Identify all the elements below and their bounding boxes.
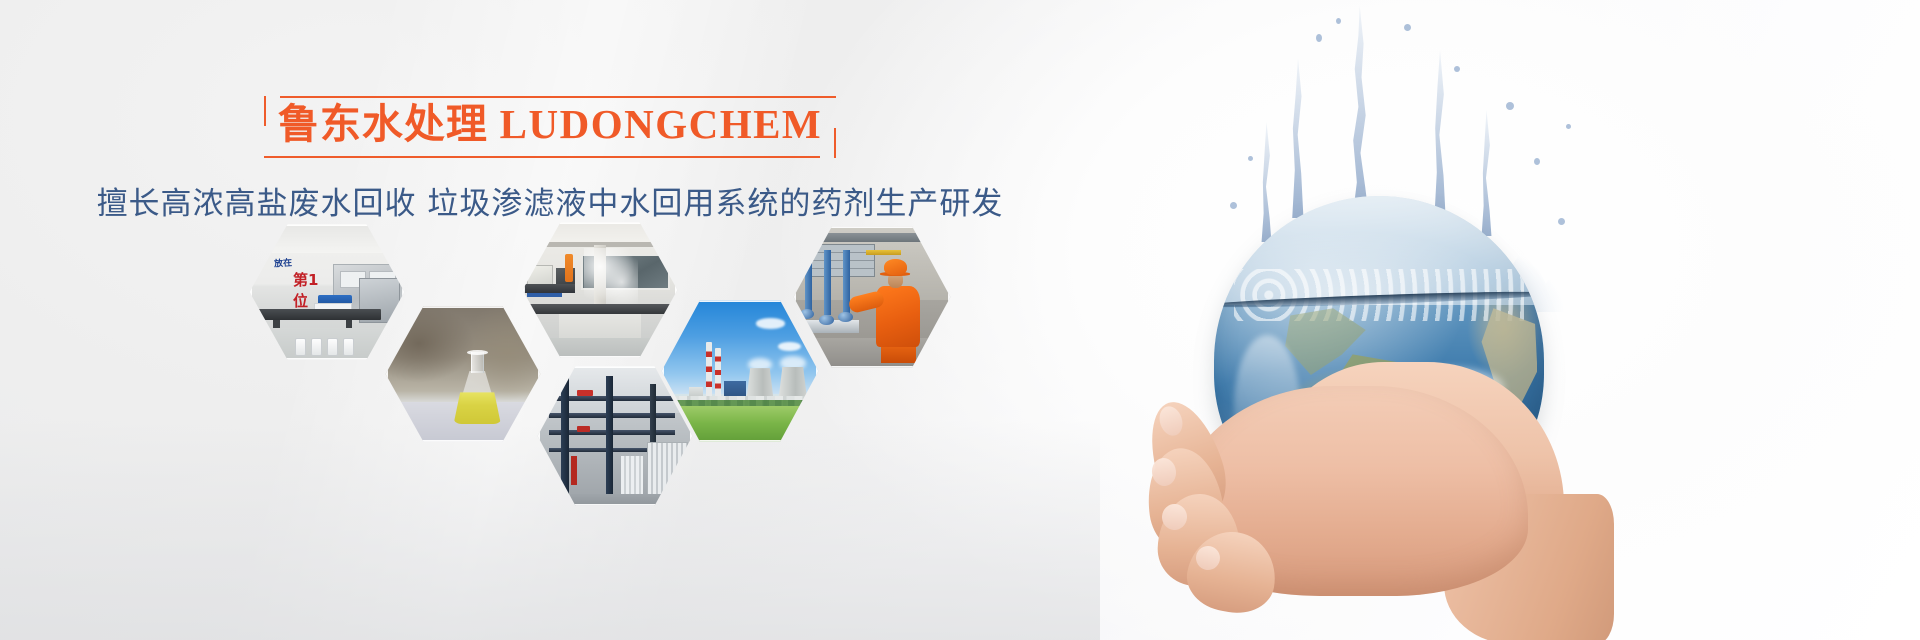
lab-interior-photo: 放在 第1位 [248, 222, 406, 362]
erlenmeyer-flask [454, 352, 501, 425]
title-rule-top [280, 96, 836, 98]
brand-title-en [488, 101, 500, 147]
brand-title-en-text: LUDONGCHEM [500, 101, 823, 147]
page-title: 鲁东水处理 LUDONGCHEM [278, 102, 822, 148]
lab-glassware-photo [521, 220, 679, 360]
banner-text-block: 鲁东水处理 LUDONGCHEM 擅长高浓高盐废水回收 垃圾渗滤液中水回用系统的… [0, 96, 1100, 223]
title-bracket-left [264, 96, 266, 126]
worker-figure [872, 259, 939, 361]
title-bracket-right [834, 128, 836, 158]
worker-orange-suit-photo [792, 224, 952, 370]
flask-yellow-liquid-photo [384, 304, 542, 444]
hard-hat-icon [884, 259, 907, 275]
hexagon-photo-collage: 放在 第1位 [236, 218, 956, 518]
wall-slogan-text-2: 第1位 [293, 269, 330, 311]
cupped-hands [1144, 344, 1564, 634]
wall-slogan-text-1: 放在 [274, 255, 293, 269]
brand-title-wrap: 鲁东水处理 LUDONGCHEM [252, 96, 848, 158]
banner-subtitle: 擅长高浓高盐废水回收 垃圾渗滤液中水回用系统的药剂生产研发 [0, 178, 1100, 223]
brand-title-cn: 鲁东水处理 [278, 101, 488, 147]
water-globe-scene [1160, 0, 1920, 640]
collage-hex-worker[interactable] [792, 224, 952, 370]
hero-banner: 鲁东水处理 LUDONGCHEM 擅长高浓高盐废水回收 垃圾渗滤液中水回用系统的… [0, 0, 1920, 640]
collage-hex-lab-interior[interactable]: 放在 第1位 [248, 222, 406, 362]
title-rule-bottom [264, 156, 820, 158]
wall-slogan: 放在 第1位 [264, 256, 330, 292]
collage-hex-lab-glassware[interactable] [521, 220, 679, 360]
collage-hex-flask[interactable] [384, 304, 542, 444]
